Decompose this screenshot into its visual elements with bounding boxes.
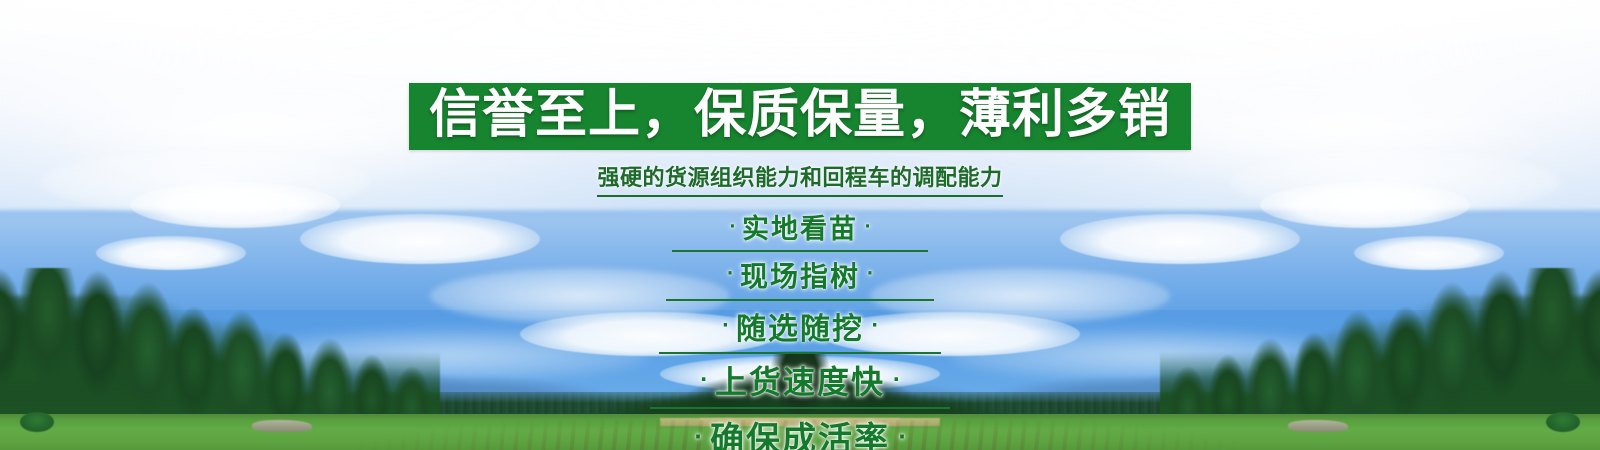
bullet-dot-icon: · (715, 317, 736, 336)
feature-label: 随选随挖 (736, 304, 864, 348)
bullet-dot-icon: · (885, 370, 908, 390)
feature-item: · 随选随挖 · (659, 304, 941, 354)
feature-label: 实地看苗 (742, 207, 858, 246)
bullet-dot-icon: · (723, 218, 742, 235)
headline-text: 信誉至上，保质保量，薄利多销 (429, 89, 1171, 141)
feature-item: · 上货速度快 · (650, 357, 950, 409)
banner-content: 信誉至上，保质保量，薄利多销 强硬的货源组织能力和回程车的调配能力 · 实地看苗… (0, 0, 1600, 450)
bullet-dot-icon: · (692, 370, 715, 390)
feature-item: · 现场指树 · (666, 255, 934, 301)
bullet-dot-icon: · (864, 317, 885, 336)
bullet-dot-icon: · (720, 266, 740, 283)
feature-label: 现场指树 (740, 255, 860, 295)
feature-label: 上货速度快 (715, 357, 885, 403)
promo-banner: 信誉至上，保质保量，薄利多销 强硬的货源组织能力和回程车的调配能力 · 实地看苗… (0, 0, 1600, 450)
feature-item: · 实地看苗 · (672, 207, 928, 252)
subtitle-text: 强硬的货源组织能力和回程车的调配能力 (597, 160, 1002, 197)
headline-bar: 信誉至上，保质保量，薄利多销 (409, 83, 1191, 150)
bullet-dot-icon: · (890, 426, 914, 447)
feature-label: 确保成活率 (710, 412, 890, 450)
bullet-dot-icon: · (686, 426, 710, 447)
bullet-dot-icon: · (860, 266, 880, 283)
bullet-dot-icon: · (858, 218, 877, 235)
feature-list: · 实地看苗 · · 现场指树 · · 随选随挖 · · 上货速度快 · · (642, 205, 958, 450)
feature-item: · 确保成活率 · (642, 412, 958, 450)
